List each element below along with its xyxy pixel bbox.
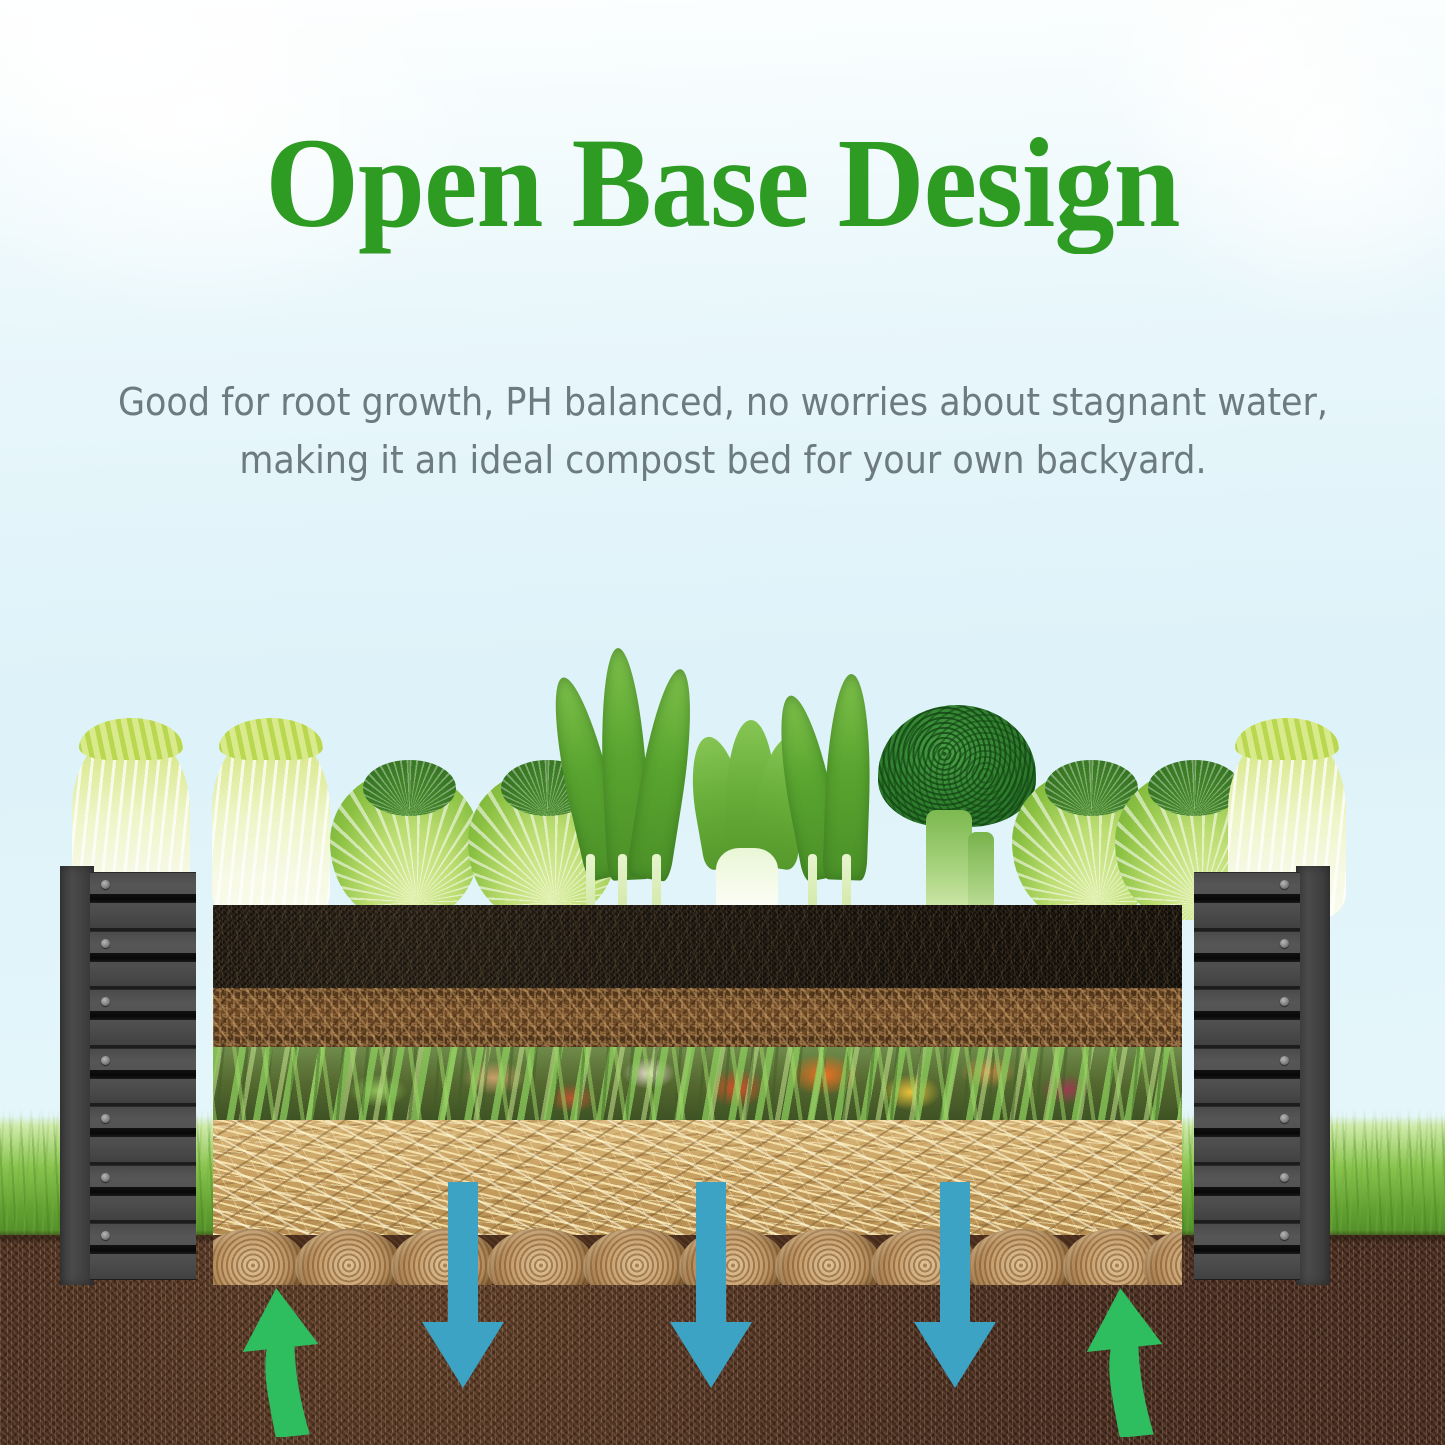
screw-icon bbox=[1280, 1231, 1289, 1240]
screw-icon bbox=[101, 880, 110, 889]
panel-slat bbox=[90, 1165, 196, 1224]
broccoli-crown bbox=[878, 705, 1036, 827]
panel-slat bbox=[1194, 1223, 1300, 1280]
panel-slat bbox=[90, 1048, 196, 1107]
screw-icon bbox=[101, 997, 110, 1006]
right-panel-slats bbox=[1194, 872, 1300, 1280]
plant-broccoli-1 bbox=[872, 705, 1042, 920]
layer-wood-chips bbox=[213, 988, 1182, 1047]
arrow-drainage-3 bbox=[912, 1182, 998, 1412]
left-panel-slats bbox=[90, 872, 196, 1280]
screw-icon bbox=[1280, 880, 1289, 889]
screw-icon bbox=[1280, 1114, 1289, 1123]
panel-slat bbox=[90, 989, 196, 1048]
page-subtitle: Good for root growth, PH balanced, no wo… bbox=[111, 374, 1335, 490]
arrow-airflow-in-left bbox=[238, 1252, 324, 1437]
left-wall-panel bbox=[60, 866, 196, 1285]
infographic-canvas: Open Base Design Good for root growth, P… bbox=[0, 0, 1445, 1445]
page-title: Open Base Design bbox=[43, 118, 1401, 249]
log-round bbox=[775, 1229, 883, 1285]
panel-slat bbox=[1194, 872, 1300, 931]
panel-slat bbox=[1194, 1106, 1300, 1165]
right-corner-post bbox=[1296, 866, 1330, 1285]
screw-icon bbox=[1280, 1056, 1289, 1065]
arrow-airflow-in-right bbox=[1082, 1252, 1168, 1437]
screw-icon bbox=[101, 1114, 110, 1123]
screw-icon bbox=[1280, 939, 1289, 948]
panel-slat bbox=[1194, 1165, 1300, 1224]
chard-leaf bbox=[822, 673, 873, 880]
layer-kitchen-scraps bbox=[213, 1047, 1182, 1120]
screw-icon bbox=[101, 1173, 110, 1182]
arrow-drainage-2 bbox=[668, 1182, 754, 1412]
left-corner-post bbox=[60, 866, 94, 1285]
plant-napa-cabbage-2 bbox=[212, 730, 330, 920]
screw-icon bbox=[101, 939, 110, 948]
screw-icon bbox=[101, 1056, 110, 1065]
panel-slat bbox=[1194, 989, 1300, 1048]
layer-compost-soil bbox=[213, 905, 1182, 988]
screw-icon bbox=[1280, 997, 1289, 1006]
panel-slat bbox=[90, 872, 196, 931]
screw-icon bbox=[101, 1231, 110, 1240]
screw-icon bbox=[1280, 1173, 1289, 1182]
broccoli-stalk bbox=[926, 810, 972, 920]
right-wall-panel bbox=[1194, 866, 1330, 1285]
panel-slat bbox=[1194, 1048, 1300, 1107]
plant-cabbage-1 bbox=[330, 770, 480, 920]
panel-slat bbox=[90, 1106, 196, 1165]
panel-slat bbox=[90, 1223, 196, 1280]
panel-slat bbox=[1194, 931, 1300, 990]
arrow-drainage-1 bbox=[420, 1182, 506, 1412]
plant-chard-1 bbox=[560, 620, 710, 920]
panel-slat bbox=[90, 931, 196, 990]
